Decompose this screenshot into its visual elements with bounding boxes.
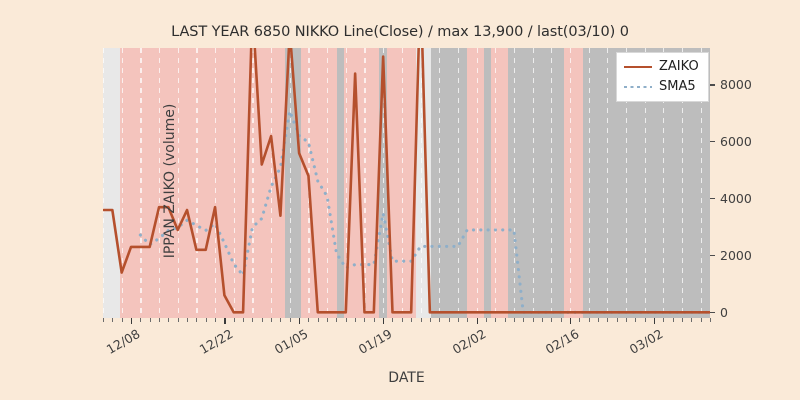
x-axis-minor-tick [486, 318, 487, 322]
x-axis-minor-tick [598, 318, 599, 322]
x-tick-label: 01/19 [351, 326, 395, 360]
chart-figure: LAST YEAR 6850 NIKKO Line(Close) / max 1… [0, 0, 800, 400]
x-axis-minor-tick [542, 318, 543, 322]
x-tick-label: 01/05 [267, 326, 311, 360]
y-axis-tick: 2000 [710, 248, 752, 262]
x-tick-label: 12/22 [192, 326, 236, 360]
x-tick-label: 03/02 [622, 326, 666, 360]
x-tick-label: 02/16 [538, 326, 582, 360]
legend-key-line [624, 86, 652, 89]
x-axis-minor-tick [206, 318, 207, 322]
x-axis-minor-tick [271, 318, 272, 322]
x-axis-minor-tick [663, 318, 664, 322]
legend-label: SMA5 [659, 79, 696, 94]
tick-mark [710, 255, 715, 256]
x-axis-minor-tick [579, 318, 580, 322]
x-axis-minor-tick [308, 318, 309, 322]
y-tick-label: 8000 [720, 77, 752, 92]
x-axis-minor-tick [346, 318, 347, 322]
x-axis-minor-tick [421, 318, 422, 322]
x-axis-minor-tick [122, 318, 123, 322]
tick-mark [710, 84, 715, 85]
x-axis-minor-tick [364, 318, 365, 322]
x-axis-minor-tick [355, 318, 356, 322]
x-axis-minor-tick [178, 318, 179, 322]
x-axis-major-tick [224, 318, 225, 324]
x-axis-minor-tick [430, 318, 431, 322]
y-tick-label: 6000 [720, 134, 752, 149]
x-axis-minor-tick [280, 318, 281, 322]
x-axis-minor-tick [551, 318, 552, 322]
legend-key-icon [624, 81, 652, 93]
x-axis-minor-tick [140, 318, 141, 322]
tick-mark [710, 198, 715, 199]
chart-title: LAST YEAR 6850 NIKKO Line(Close) / max 1… [0, 24, 800, 40]
x-axis-minor-tick [318, 318, 319, 322]
x-axis-minor-tick [458, 318, 459, 322]
x-axis-minor-tick [533, 318, 534, 322]
x-axis-minor-tick [374, 318, 375, 322]
legend-item-sma5[interactable]: SMA5 [624, 78, 699, 95]
x-axis-minor-tick [701, 318, 702, 322]
x-axis-minor-tick [449, 318, 450, 322]
x-axis-minor-tick [645, 318, 646, 322]
x-axis-major-tick [654, 318, 655, 324]
x-axis-minor-tick [112, 318, 113, 322]
x-axis-title: DATE [103, 370, 710, 386]
x-axis-minor-tick [691, 318, 692, 322]
x-axis-minor-tick [523, 318, 524, 322]
x-axis-minor-tick [187, 318, 188, 322]
legend-key-line [624, 66, 652, 68]
x-axis-minor-tick [402, 318, 403, 322]
x-axis-minor-tick [505, 318, 506, 322]
y-axis-tick: 6000 [710, 135, 752, 149]
x-axis-minor-tick [626, 318, 627, 322]
x-axis-minor-tick [561, 318, 562, 322]
x-axis-minor-tick [617, 318, 618, 322]
x-axis-minor-tick [168, 318, 169, 322]
x-axis-minor-tick [682, 318, 683, 322]
x-axis-minor-tick [150, 318, 151, 322]
x-axis-minor-tick [635, 318, 636, 322]
x-axis-major-tick [131, 318, 132, 324]
tick-mark [710, 141, 715, 142]
legend-item-zaiko[interactable]: ZAIKO [624, 58, 699, 75]
x-axis-minor-tick [290, 318, 291, 322]
x-axis-minor-tick [336, 318, 337, 322]
x-axis-minor-tick [673, 318, 674, 322]
y-axis-title: IPPAN ZAIKO (volume) [162, 66, 178, 296]
x-axis-minor-tick [589, 318, 590, 322]
x-axis-minor-tick [411, 318, 412, 322]
y-axis-tick: 0 [710, 305, 728, 319]
x-axis-minor-tick [495, 318, 496, 322]
x-axis-minor-tick [159, 318, 160, 322]
x-axis-minor-tick [467, 318, 468, 322]
x-tick-label: 12/08 [99, 326, 143, 360]
x-axis-minor-tick [607, 318, 608, 322]
tick-mark [710, 312, 715, 313]
x-axis-minor-tick [262, 318, 263, 322]
y-tick-label: 2000 [720, 248, 752, 263]
legend-label: ZAIKO [659, 59, 699, 74]
legend-key-icon [624, 61, 652, 73]
x-axis-minor-tick [243, 318, 244, 322]
y-axis-tick: 4000 [710, 192, 752, 206]
x-axis-major-tick [299, 318, 300, 324]
x-axis-major-tick [570, 318, 571, 324]
y-axis: 02000400060008000 [710, 48, 790, 318]
x-axis-major-tick [383, 318, 384, 324]
x-tick-label: 02/02 [444, 326, 488, 360]
x-axis-minor-tick [103, 318, 104, 322]
y-tick-label: 0 [720, 305, 728, 320]
chart-legend[interactable]: ZAIKOSMA5 [616, 52, 709, 102]
x-axis-minor-tick [514, 318, 515, 322]
x-axis-minor-tick [215, 318, 216, 322]
x-axis-minor-tick [196, 318, 197, 322]
y-tick-label: 4000 [720, 191, 752, 206]
x-axis-minor-tick [234, 318, 235, 322]
x-axis-minor-tick [710, 318, 711, 322]
y-axis-tick: 8000 [710, 78, 752, 92]
x-axis-ticks [103, 318, 710, 324]
x-axis-minor-tick [392, 318, 393, 322]
x-axis-minor-tick [327, 318, 328, 322]
x-axis-major-tick [477, 318, 478, 324]
x-axis-minor-tick [252, 318, 253, 322]
x-axis-minor-tick [439, 318, 440, 322]
